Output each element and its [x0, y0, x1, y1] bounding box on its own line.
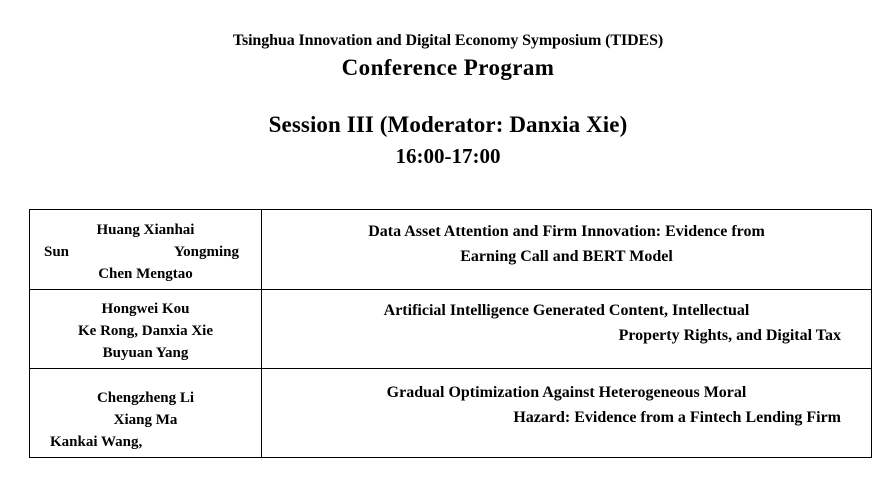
- paper-title-line: Gradual Optimization Against Heterogeneo…: [274, 380, 859, 405]
- author-line: Chen Mengtao: [38, 263, 253, 285]
- authors-cell: Hongwei Kou Ke Rong, Danxia Xie Buyuan Y…: [30, 290, 262, 369]
- document-header: Tsinghua Innovation and Digital Economy …: [0, 0, 896, 82]
- session-heading: Session III (Moderator: Danxia Xie) 16:0…: [0, 110, 896, 170]
- paper-title-cell: Data Asset Attention and Firm Innovation…: [262, 210, 872, 290]
- session-title: Session III (Moderator: Danxia Xie): [0, 110, 896, 139]
- paper-title-cell: Gradual Optimization Against Heterogeneo…: [262, 369, 872, 458]
- table-row: Hongwei Kou Ke Rong, Danxia Xie Buyuan Y…: [30, 290, 872, 369]
- session-time: 16:00-17:00: [0, 143, 896, 170]
- author-line: Huang Xianhai: [38, 219, 253, 241]
- program-table: Huang Xianhai Sun Yongming Chen Mengtao …: [29, 209, 872, 458]
- table-row: Huang Xianhai Sun Yongming Chen Mengtao …: [30, 210, 872, 290]
- page-title: Conference Program: [0, 53, 896, 82]
- authors-cell: Huang Xianhai Sun Yongming Chen Mengtao: [30, 210, 262, 290]
- author-line: Kankai Wang,: [38, 431, 253, 453]
- authors-cell: Chengzheng Li Xiang Ma Kankai Wang,: [30, 369, 262, 458]
- paper-title-cell: Artificial Intelligence Generated Conten…: [262, 290, 872, 369]
- paper-title-line: Earning Call and BERT Model: [274, 244, 859, 269]
- paper-title-line: Property Rights, and Digital Tax: [274, 323, 859, 348]
- author-line: Sun Yongming: [38, 241, 253, 263]
- organization-title: Tsinghua Innovation and Digital Economy …: [0, 31, 896, 51]
- author-line: Xiang Ma: [38, 409, 253, 431]
- author-line: Buyuan Yang: [38, 342, 253, 364]
- program-table-container: Huang Xianhai Sun Yongming Chen Mengtao …: [29, 209, 871, 458]
- paper-title-line: Hazard: Evidence from a Fintech Lending …: [274, 405, 859, 430]
- author-line: Chengzheng Li: [38, 387, 253, 409]
- paper-title-line: Data Asset Attention and Firm Innovation…: [274, 219, 859, 244]
- author-name-part: Sun: [44, 241, 69, 263]
- table-row: Chengzheng Li Xiang Ma Kankai Wang, Grad…: [30, 369, 872, 458]
- author-line: Ke Rong, Danxia Xie: [38, 320, 253, 342]
- paper-title-line: Artificial Intelligence Generated Conten…: [274, 298, 859, 323]
- author-line: Hongwei Kou: [38, 298, 253, 320]
- author-name-part: Yongming: [174, 241, 239, 263]
